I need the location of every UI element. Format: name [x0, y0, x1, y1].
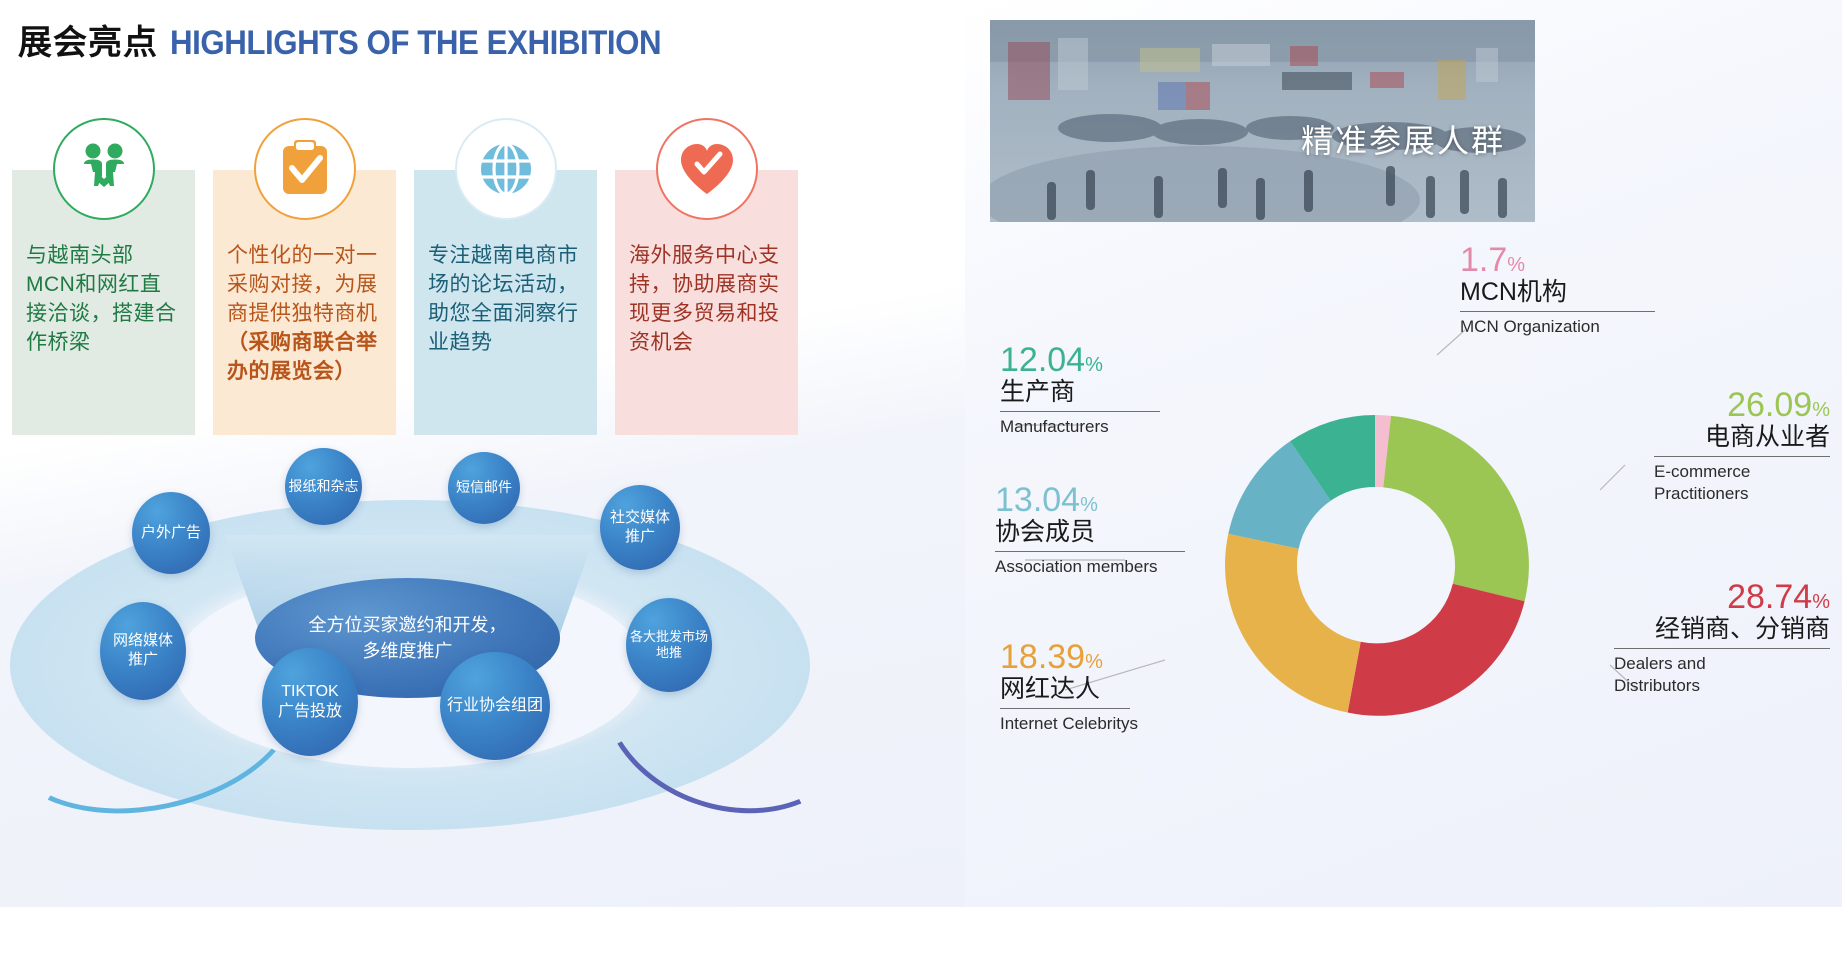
highlight-card-2-text: 个性化的一对一采购对接，为展商提供独特商机（采购商联合举办的展览会）	[227, 242, 382, 387]
callout-association: 13.04% 协会成员 Association members	[995, 483, 1275, 578]
callout-dealers-label-cn: 经销商、分销商	[1540, 614, 1830, 648]
heart-check-icon	[656, 118, 758, 220]
decorative-dashed-line	[686, 915, 806, 955]
callout-manufacturers-percent: 12.04%	[1000, 343, 1250, 377]
bubble-label: 行业协会组团	[447, 696, 543, 716]
bubble-label: 报纸和杂志	[289, 478, 359, 496]
bubble-label: 短信邮件	[456, 479, 512, 497]
callout-mcn: 1.7% MCN机构 MCN Organization	[1460, 243, 1710, 338]
callout-mcn-label-cn: MCN机构	[1460, 277, 1710, 311]
bubble-wholesale-market[interactable]: 各大批发市场 地推	[626, 598, 712, 692]
handshake-icon	[53, 118, 155, 220]
callout-mcn-percent: 1.7%	[1460, 243, 1710, 277]
highlight-card-3[interactable]: 专注越南电商市场的论坛活动，助您全面洞察行业趋势	[414, 170, 597, 435]
highlight-card-2[interactable]: 个性化的一对一采购对接，为展商提供独特商机（采购商联合举办的展览会）	[213, 170, 396, 435]
callout-association-label-en: Association members	[995, 552, 1275, 578]
globe-icon	[455, 118, 557, 220]
callout-dealers: 28.74% 经销商、分销商 Dealers and Distributors	[1540, 580, 1830, 697]
highlight-cards: 与越南头部MCN和网红直接洽谈，搭建合作桥梁 个性化的一对一采购对接，为展商提供…	[12, 170, 812, 440]
callout-ecommerce: 26.09% 电商从业者 E-commerce Practitioners	[1560, 388, 1830, 505]
callout-dealers-label-en: Dealers and Distributors	[1540, 649, 1830, 697]
bubble-tiktok-ads[interactable]: TIKTOK 广告投放	[262, 648, 358, 756]
callout-association-percent: 13.04%	[995, 483, 1275, 517]
highlight-card-3-text: 专注越南电商市场的论坛活动，助您全面洞察行业趋势	[428, 242, 583, 358]
callout-celebrities: 18.39% 网红达人 Internet Celebritys	[1000, 640, 1270, 735]
callout-celebrities-percent: 18.39%	[1000, 640, 1270, 674]
callout-dealers-percent: 28.74%	[1540, 580, 1830, 614]
page-title-chinese: 展会亮点	[18, 15, 158, 64]
callout-ecommerce-percent: 26.09%	[1560, 388, 1830, 422]
page-title-english: HIGHLIGHTS OF THE EXHIBITION	[170, 24, 661, 63]
highlight-card-4-text: 海外服务中心支持，协助展商实现更多贸易和投资机会	[629, 242, 784, 358]
page-title: 展会亮点 HIGHLIGHTS OF THE EXHIBITION	[18, 15, 704, 64]
bubble-social-media[interactable]: 社交媒体 推广	[600, 485, 680, 570]
callout-celebrities-label-en: Internet Celebritys	[1000, 709, 1270, 735]
bubble-label: 社交媒体 推广	[610, 509, 670, 547]
bubble-sms-email[interactable]: 短信邮件	[448, 452, 520, 524]
highlight-card-1[interactable]: 与越南头部MCN和网红直接洽谈，搭建合作桥梁	[12, 170, 195, 435]
bubble-label: 网络媒体 推广	[113, 632, 173, 670]
bubble-label: 户外广告	[141, 524, 201, 543]
callout-manufacturers: 12.04% 生产商 Manufacturers	[1000, 343, 1250, 438]
callout-manufacturers-label-cn: 生产商	[1000, 377, 1250, 411]
callout-mcn-label-en: MCN Organization	[1460, 312, 1710, 338]
bubble-label: TIKTOK 广告投放	[278, 682, 342, 722]
photo-caption: 精准参展人群	[1301, 116, 1505, 162]
highlight-card-1-text: 与越南头部MCN和网红直接洽谈，搭建合作桥梁	[26, 242, 181, 358]
promotion-bubble-diagram: 全方位买家邀约和开发， 多维度推广 户外广告 报纸和杂志 短信邮件 社交媒体 推…	[0, 430, 830, 907]
exhibition-hall-crowd-photo: 精准参展人群	[990, 20, 1535, 222]
callout-ecommerce-label-en: E-commerce Practitioners	[1560, 457, 1830, 505]
highlight-card-4[interactable]: 海外服务中心支持，协助展商实现更多贸易和投资机会	[615, 170, 798, 435]
bubble-label: 各大批发市场 地推	[630, 629, 708, 662]
bubble-online-media[interactable]: 网络媒体 推广	[100, 602, 186, 700]
core-label-line-1: 全方位买家邀约和开发，	[309, 612, 507, 638]
callout-association-label-cn: 协会成员	[995, 517, 1275, 551]
callout-celebrities-label-cn: 网红达人	[1000, 674, 1270, 708]
clipboard-check-icon	[254, 118, 356, 220]
bubble-outdoor-ads[interactable]: 户外广告	[132, 492, 210, 574]
bubble-industry-assoc[interactable]: 行业协会组团	[440, 652, 550, 760]
bubble-newspaper-magazine[interactable]: 报纸和杂志	[285, 448, 362, 525]
callout-manufacturers-label-en: Manufacturers	[1000, 412, 1250, 438]
callout-ecommerce-label-cn: 电商从业者	[1560, 422, 1830, 456]
